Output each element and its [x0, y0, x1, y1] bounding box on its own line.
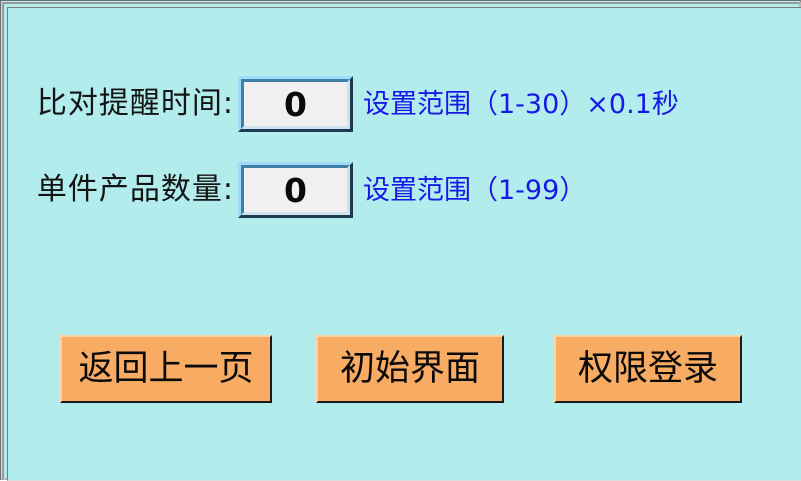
hint-compare-reminder-time: 设置范围（1-30）×0.1秒: [353, 91, 679, 118]
label-compare-reminder-time: 比对提醒时间:: [8, 89, 238, 119]
input-compare-reminder-time-value: 0: [284, 88, 307, 121]
form-row-compare-reminder-time: 比对提醒时间: 0 设置范围（1-30）×0.1秒: [8, 74, 679, 134]
back-to-previous-page-button-label: 返回上一页: [78, 352, 253, 387]
permission-login-button[interactable]: 权限登录: [554, 335, 742, 403]
permission-login-button-label: 权限登录: [578, 352, 718, 387]
hint-single-product-quantity: 设置范围（1-99）: [353, 177, 586, 204]
initial-screen-button[interactable]: 初始界面: [316, 335, 504, 403]
hmi-panel: 比对提醒时间: 0 设置范围（1-30）×0.1秒 单件产品数量: 0 设置范围…: [0, 0, 801, 480]
hmi-panel-content: 比对提醒时间: 0 设置范围（1-30）×0.1秒 单件产品数量: 0 设置范围…: [7, 7, 801, 481]
hmi-panel-bevel: 比对提醒时间: 0 设置范围（1-30）×0.1秒 单件产品数量: 0 设置范围…: [2, 2, 801, 480]
input-compare-reminder-time-field[interactable]: 0: [241, 79, 350, 129]
input-compare-reminder-time[interactable]: 0: [238, 76, 353, 132]
input-single-product-quantity-field[interactable]: 0: [241, 165, 350, 215]
back-to-previous-page-button[interactable]: 返回上一页: [60, 335, 272, 403]
input-single-product-quantity[interactable]: 0: [238, 162, 353, 218]
label-single-product-quantity: 单件产品数量:: [8, 175, 238, 205]
input-single-product-quantity-value: 0: [284, 174, 307, 207]
form-row-single-product-quantity: 单件产品数量: 0 设置范围（1-99）: [8, 160, 586, 220]
initial-screen-button-label: 初始界面: [340, 352, 480, 387]
